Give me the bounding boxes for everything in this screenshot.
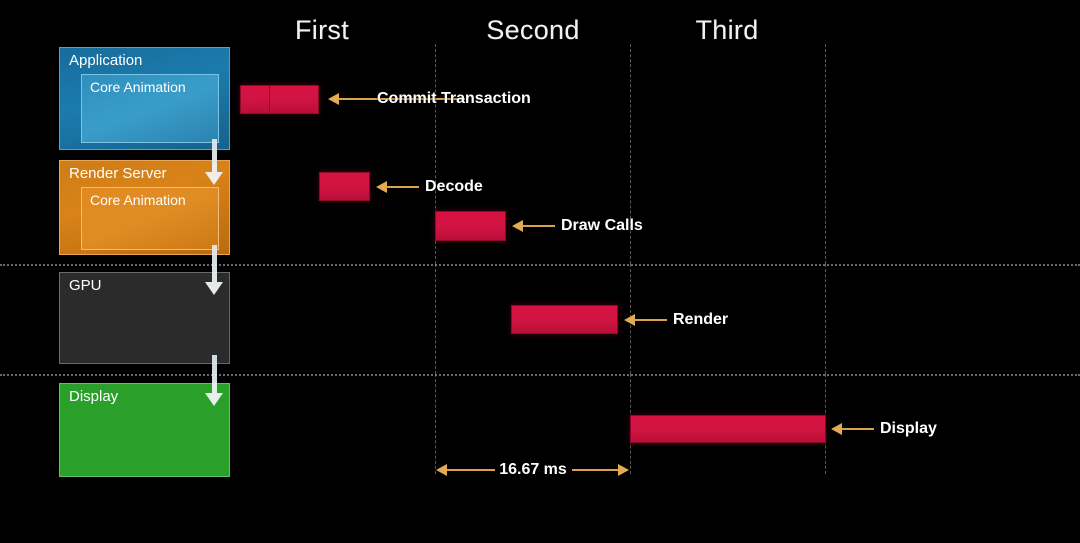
lane-separator-display [0,374,1080,376]
work-bar-commit-transaction-b [269,85,319,114]
measure-line-left [447,469,495,471]
frame-duration-label: 16.67 ms [499,462,567,478]
subsystem-box-core-animation-render: Core Animation [81,187,219,250]
callout-label-display: Display [880,421,937,437]
down-arrow-icon-render-to-gpu [205,282,223,295]
frame-label-second: Second [486,17,579,44]
lane-separator-gpu [0,264,1080,266]
process-label-application: Application [69,53,142,70]
left-arrow-icon-render [624,314,635,326]
frame-label-third: Third [695,17,758,44]
flow-arrow-app-to-render-shaft [212,139,217,172]
subsystem-label-core-animation-render: Core Animation [90,192,186,208]
callout-label-render: Render [673,312,728,328]
callout-line-display [842,428,874,430]
process-label-display: Display [69,389,118,406]
callout-line-render [635,319,667,321]
down-arrow-icon-app-to-render [205,172,223,185]
right-arrow-icon-frame-duration [618,464,629,476]
work-bar-render [511,305,618,334]
frame-boundary-1-lower [435,374,436,474]
process-label-render-server: Render Server [69,166,167,183]
frame-boundary-3-upper [825,44,826,264]
flow-arrow-render-to-gpu-shaft [212,245,217,282]
frame-boundary-1-mid [435,264,436,374]
frame-boundary-3-mid [825,264,826,374]
callout-label-draw-calls: Draw Calls [561,218,643,234]
measure-line-right [572,469,619,471]
down-arrow-icon-gpu-to-display [205,393,223,406]
callout-label-decode: Decode [425,179,483,195]
subsystem-box-core-animation-app: Core Animation [81,74,219,143]
left-arrow-icon-decode [376,181,387,193]
left-arrow-icon-frame-duration [436,464,447,476]
process-label-gpu: GPU [69,278,102,295]
work-bar-decode [319,172,370,201]
left-arrow-icon-display [831,423,842,435]
frame-label-first: First [295,17,349,44]
work-bar-display [630,415,826,443]
subsystem-label-core-animation-app: Core Animation [90,79,186,95]
pipeline-timeline-diagram: First Second Third Application Core Anim… [0,0,1080,543]
flow-arrow-gpu-to-display-shaft [212,355,217,393]
left-arrow-icon-draw-calls [512,220,523,232]
process-box-application: Application Core Animation [59,47,230,150]
callout-line-draw-calls [523,225,555,227]
left-arrow-icon-commit-transaction [328,93,339,105]
work-bar-draw-calls [435,211,506,241]
callout-line-decode [387,186,419,188]
callout-label-commit-transaction: Commit Transaction [377,91,531,107]
work-bar-commit-transaction-a [240,85,270,114]
